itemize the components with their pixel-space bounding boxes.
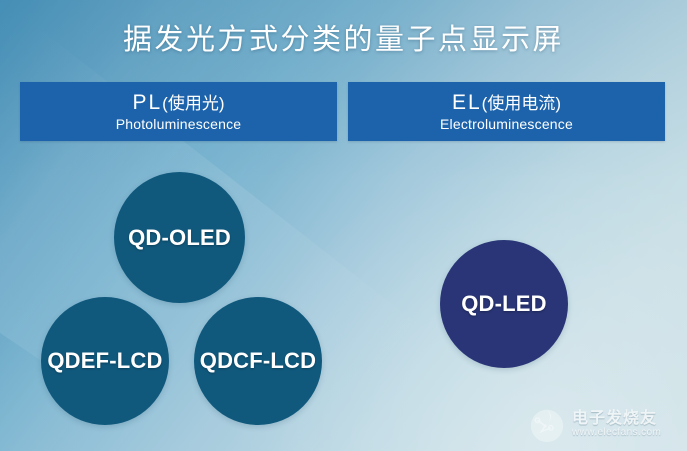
category-pl-chinese: (使用光)	[162, 94, 224, 113]
category-header-pl: PL(使用光) Photoluminescence	[20, 82, 337, 141]
category-pl-full-name: Photoluminescence	[116, 117, 242, 131]
slide-title: 据发光方式分类的量子点显示屏	[0, 16, 687, 58]
category-pl-line1: PL(使用光)	[132, 92, 224, 113]
slide-canvas: 据发光方式分类的量子点显示屏 PL(使用光) Photoluminescence…	[0, 0, 687, 451]
category-el-line1: EL(使用电流)	[452, 92, 561, 113]
bubble-qd-oled: QD-OLED	[114, 172, 245, 303]
bubble-qd-led: QD-LED	[440, 240, 568, 368]
category-header-el: EL(使用电流) Electroluminescence	[348, 82, 665, 141]
bubble-qdcf-lcd: QDCF-LCD	[194, 297, 322, 425]
category-pl-abbreviation: PL	[132, 91, 162, 114]
category-el-chinese: (使用电流)	[482, 94, 561, 113]
category-el-full-name: Electroluminescence	[440, 117, 573, 131]
category-el-abbreviation: EL	[452, 91, 482, 114]
bubble-qdef-lcd: QDEF-LCD	[41, 297, 169, 425]
